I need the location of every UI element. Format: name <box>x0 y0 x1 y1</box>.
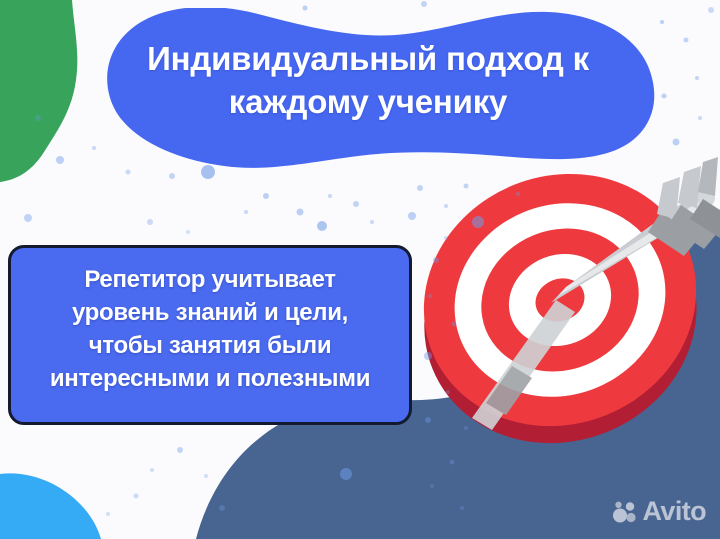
callout-line-1: Репетитор учитывает <box>0 264 428 297</box>
callout-line-3: чтобы занятия были <box>0 330 428 363</box>
callout-text: Репетитор учитывает уровень знаний и цел… <box>0 264 428 396</box>
headline-banner: Индивидуальный подход к каждому ученику <box>72 8 662 170</box>
avito-wordmark: Avito <box>643 498 707 525</box>
headline-line-1: Индивидуальный подход к <box>147 40 589 77</box>
callout-line-4: интересными и полезными <box>0 363 428 396</box>
promo-poster: Индивидуальный подход к каждому ученику … <box>0 0 720 539</box>
callout-line-2: уровень знаний и цели, <box>0 297 428 330</box>
headline-line-2: каждому ученику <box>229 83 507 120</box>
avito-dots-logo <box>612 501 638 523</box>
headline-text: Индивидуальный подход к каждому ученику <box>98 38 638 124</box>
avito-watermark: Avito <box>612 498 707 525</box>
